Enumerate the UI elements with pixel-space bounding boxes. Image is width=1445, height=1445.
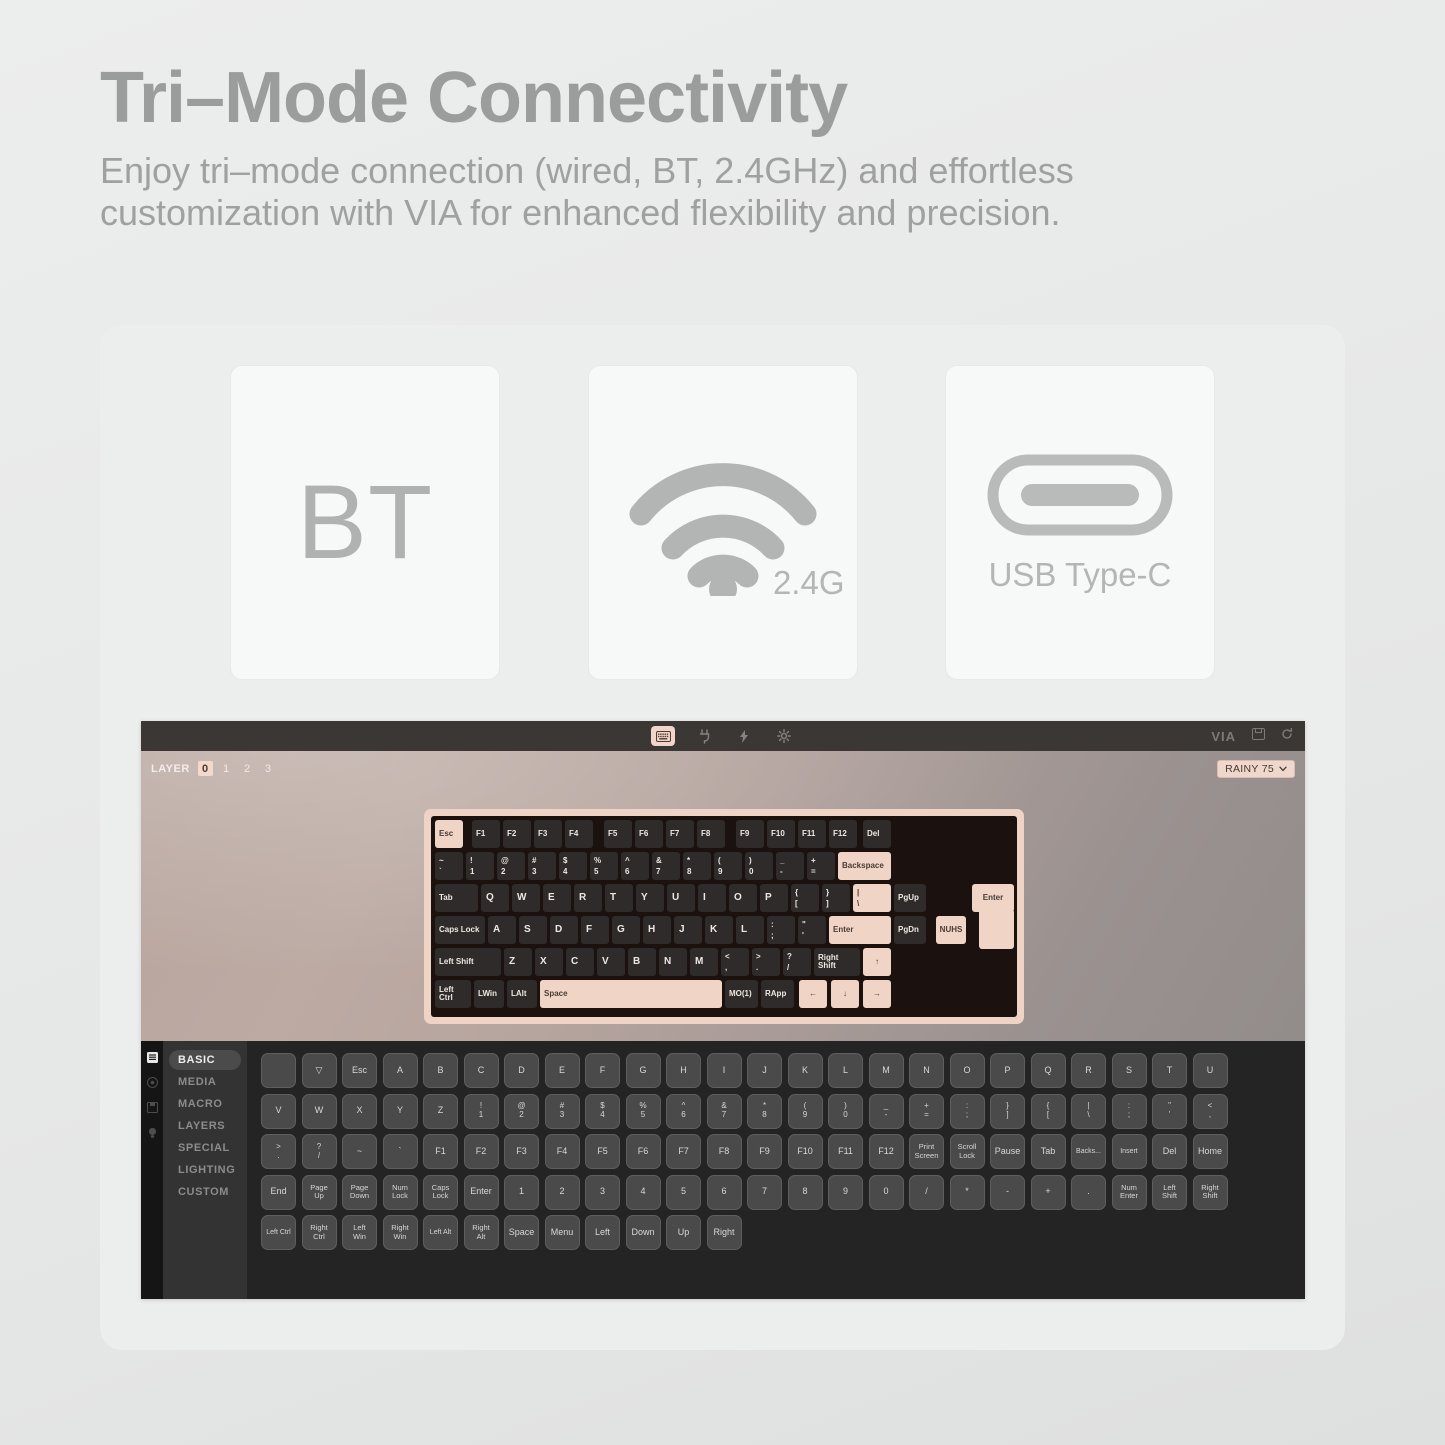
keycode-button[interactable]: -: [990, 1175, 1025, 1210]
keymap-key[interactable]: G: [612, 916, 640, 944]
keymap-key[interactable]: B: [628, 948, 656, 976]
keycode-button[interactable]: Enter: [464, 1175, 499, 1210]
keycode-button[interactable]: F4: [545, 1134, 580, 1169]
keycode-button[interactable]: Up: [666, 1215, 701, 1250]
keycode-button[interactable]: &7: [707, 1094, 742, 1129]
keyboard-select-dropdown[interactable]: RAINY 75: [1217, 760, 1295, 778]
keymap-key[interactable]: Z: [504, 948, 532, 976]
keymap-key[interactable]: N: [659, 948, 687, 976]
keymap-key[interactable]: Left Shift: [435, 948, 501, 976]
keymap-key[interactable]: Left Ctrl: [435, 980, 471, 1008]
keycode-button[interactable]: Left Alt: [423, 1215, 458, 1250]
keymap-key[interactable]: K: [705, 916, 733, 944]
usbc-label: USB Type-C: [989, 556, 1172, 594]
layer-label: LAYER: [151, 763, 190, 775]
keymap-key[interactable]: Tab: [435, 884, 478, 912]
keycode-button[interactable]: N: [909, 1053, 944, 1088]
keycode-button[interactable]: F3: [504, 1134, 539, 1169]
keyboard-icon[interactable]: [651, 726, 675, 746]
keymap-key[interactable]: ↑: [863, 948, 891, 976]
keycode-button[interactable]: T: [1152, 1053, 1187, 1088]
keycode-button[interactable]: %5: [626, 1094, 661, 1129]
keycode-button[interactable]: Tab: [1031, 1134, 1066, 1169]
keycode-button[interactable]: Down: [626, 1215, 661, 1250]
menu-item-media[interactable]: MEDIA: [169, 1072, 241, 1092]
keymap-key[interactable]: F6: [635, 820, 663, 848]
keycode-button[interactable]: 0: [869, 1175, 904, 1210]
keycode-button[interactable]: F11: [828, 1134, 863, 1169]
keycode-button[interactable]: F5: [585, 1134, 620, 1169]
keycode-button[interactable]: 1: [504, 1175, 539, 1210]
keycode-button[interactable]: G: [626, 1053, 661, 1088]
keycode-button[interactable]: $4: [585, 1094, 620, 1129]
category-menu: BASICMEDIAMACROLAYERSSPECIALLIGHTINGCUST…: [163, 1041, 247, 1299]
keymap-key[interactable]: NUHS: [936, 916, 966, 944]
keymap-key[interactable]: MO(1): [725, 980, 758, 1008]
keycode-button[interactable]: RightWin: [383, 1215, 418, 1250]
layer-option-3[interactable]: 3: [261, 761, 276, 776]
keycode-button[interactable]: Z: [423, 1094, 458, 1129]
keycode-button[interactable]: #3: [545, 1094, 580, 1129]
keymap-key[interactable]: Del: [863, 820, 891, 848]
keymap-key[interactable]: W: [512, 884, 540, 912]
keymap-key[interactable]: @2: [497, 852, 525, 880]
keymap-key[interactable]: Caps Lock: [435, 916, 485, 944]
keymap-key[interactable]: "': [798, 916, 826, 944]
keycode-button[interactable]: Insert: [1112, 1134, 1147, 1169]
keycode-button[interactable]: D: [504, 1053, 539, 1088]
keycode-button[interactable]: _-: [869, 1094, 904, 1129]
menu-item-macro[interactable]: MACRO: [169, 1094, 241, 1114]
keymap-key[interactable]: F11: [798, 820, 826, 848]
keymap-key[interactable]: Right Shift: [814, 948, 860, 976]
keycode-button[interactable]: >.: [261, 1134, 296, 1169]
keycode-button[interactable]: [261, 1053, 296, 1088]
keycode-button[interactable]: Y: [383, 1094, 418, 1129]
keymap-key[interactable]: X: [535, 948, 563, 976]
keycode-button[interactable]: V: [261, 1094, 296, 1129]
keyboard-board: EscF1F2F3F4F5F6F7F8F9F10F11F12Del~`!1@2#…: [424, 809, 1024, 1024]
menu-item-lighting[interactable]: LIGHTING: [169, 1160, 241, 1180]
keymap-key[interactable]: →: [863, 980, 891, 1008]
keycode-button[interactable]: Space: [504, 1215, 539, 1250]
keymap-key[interactable]: E: [543, 884, 571, 912]
keycode-button[interactable]: W: [302, 1094, 337, 1129]
keycode-button[interactable]: )0: [828, 1094, 863, 1129]
keycode-button[interactable]: PageUp: [302, 1175, 337, 1210]
keycode-button[interactable]: PrintScreen: [909, 1134, 944, 1169]
refresh-icon[interactable]: [1281, 727, 1293, 745]
menu-item-layers[interactable]: LAYERS: [169, 1116, 241, 1136]
feature-card-wireless: 2.4G: [588, 365, 858, 680]
keymap-key[interactable]: Space: [540, 980, 722, 1008]
keycode-button[interactable]: ▽: [302, 1053, 337, 1088]
keycode-button[interactable]: RightShift: [1193, 1175, 1228, 1210]
keycode-row: >.?/~`F1F2F3F4F5F6F7F8F9F10F11F12PrintSc…: [261, 1134, 1295, 1169]
keycode-button[interactable]: F6: [626, 1134, 661, 1169]
keymap-key[interactable]: PgUp: [894, 884, 926, 912]
keymap-key[interactable]: P: [760, 884, 788, 912]
keycode-button[interactable]: ScrollLock: [950, 1134, 985, 1169]
keycode-button[interactable]: PageDown: [342, 1175, 377, 1210]
save-icon[interactable]: [146, 1101, 159, 1114]
keycode-button[interactable]: Home: [1193, 1134, 1228, 1169]
keymap-key[interactable]: O: [729, 884, 757, 912]
keycode-button[interactable]: C: [464, 1053, 499, 1088]
keymap-key[interactable]: F1: [472, 820, 500, 848]
keyboard-icon[interactable]: [146, 1051, 159, 1064]
keycode-button[interactable]: +: [1031, 1175, 1066, 1210]
menu-item-custom[interactable]: CUSTOM: [169, 1182, 241, 1202]
content-panel: BT 2.4G USB: [100, 325, 1345, 1350]
wireless-label: 2.4G: [773, 564, 845, 602]
keymap-key[interactable]: C: [566, 948, 594, 976]
keymap-key[interactable]: F: [581, 916, 609, 944]
keycode-button[interactable]: .: [1071, 1175, 1106, 1210]
keymap-key[interactable]: Y: [636, 884, 664, 912]
keymap-key[interactable]: %5: [590, 852, 618, 880]
keymap-key[interactable]: A: [488, 916, 516, 944]
keymap-key[interactable]: {[: [791, 884, 819, 912]
keymap-key[interactable]: Enter: [829, 916, 891, 944]
via-brand: VIA: [1211, 729, 1236, 744]
keycode-row: VWXYZ!1@2#3$4%5^6&7*8(9)0_-+=:;}]{[|\:;"…: [261, 1094, 1295, 1129]
keycode-button[interactable]: LeftWin: [342, 1215, 377, 1250]
keycode-button[interactable]: ?/: [302, 1134, 337, 1169]
keymap-key[interactable]: L: [736, 916, 764, 944]
keycode-button[interactable]: !1: [464, 1094, 499, 1129]
keycode-button[interactable]: F12: [869, 1134, 904, 1169]
keycode-button[interactable]: ~: [342, 1134, 377, 1169]
keymap-key[interactable]: Enter: [972, 884, 1014, 912]
keycode-button[interactable]: 8: [788, 1175, 823, 1210]
keycode-button[interactable]: F2: [464, 1134, 499, 1169]
keycode-button[interactable]: RightCtrl: [302, 1215, 337, 1250]
save-icon[interactable]: [1252, 727, 1265, 745]
keymap-key[interactable]: F10: [767, 820, 795, 848]
keycode-button[interactable]: `: [383, 1134, 418, 1169]
keycode-button[interactable]: A: [383, 1053, 418, 1088]
keycode-button[interactable]: S: [1112, 1053, 1147, 1088]
keycode-row: ▽EscABCDEFGHIJKLMNOPQRSTU: [261, 1053, 1295, 1088]
usb-plug-icon[interactable]: [693, 726, 715, 746]
keymap-key[interactable]: ←: [799, 980, 827, 1008]
keymap-key[interactable]: Backspace: [838, 852, 891, 880]
keymap-key[interactable]: |\: [853, 884, 891, 912]
keycode-button[interactable]: P: [990, 1053, 1025, 1088]
keymap-key[interactable]: ↓: [831, 980, 859, 1008]
keymap-key[interactable]: :;: [767, 916, 795, 944]
keymap-key[interactable]: $4: [559, 852, 587, 880]
feature-card-bluetooth: BT: [230, 365, 500, 680]
keymap-key[interactable]: &7: [652, 852, 680, 880]
keycode-button[interactable]: R: [1071, 1053, 1106, 1088]
keymap-key[interactable]: ~`: [435, 852, 463, 880]
keycode-button[interactable]: :;: [1112, 1094, 1147, 1129]
keycode-button[interactable]: F: [585, 1053, 620, 1088]
app-toolbar: VIA: [141, 721, 1305, 751]
keycode-button[interactable]: RightAlt: [464, 1215, 499, 1250]
feature-cards: BT 2.4G USB: [230, 365, 1215, 680]
menu-item-special[interactable]: SPECIAL: [169, 1138, 241, 1158]
keymap-key[interactable]: LWin: [474, 980, 504, 1008]
keycode-button[interactable]: 2: [545, 1175, 580, 1210]
keymap-key[interactable]: >.: [752, 948, 780, 976]
keycode-button[interactable]: Backs...: [1071, 1134, 1106, 1169]
keycode-picker-section: BASICMEDIAMACROLAYERSSPECIALLIGHTINGCUST…: [141, 1041, 1305, 1299]
keymap-key[interactable]: Esc: [435, 820, 463, 848]
keycode-button[interactable]: Right: [707, 1215, 742, 1250]
keymap-key[interactable]: H: [643, 916, 671, 944]
keymap-key[interactable]: PgDn: [894, 916, 926, 944]
keycode-button[interactable]: M: [869, 1053, 904, 1088]
keymap-key[interactable]: J: [674, 916, 702, 944]
keycode-button[interactable]: K: [788, 1053, 823, 1088]
bluetooth-label: BT: [297, 470, 433, 575]
keymap-key[interactable]: F5: [604, 820, 632, 848]
keycode-button[interactable]: }]: [990, 1094, 1025, 1129]
keycode-button[interactable]: F8: [707, 1134, 742, 1169]
keyboard-preview-area: LAYER 0 1 2 3 RAINY 75 EscF1F2F3F4F5F6F7…: [141, 751, 1305, 1041]
keymap-key[interactable]: V: [597, 948, 625, 976]
keycode-button[interactable]: NumEnter: [1112, 1175, 1147, 1210]
layer-selector[interactable]: LAYER 0 1 2 3: [151, 761, 276, 776]
page-title: Tri–Mode Connectivity: [100, 62, 1300, 134]
keycode-button[interactable]: End: [261, 1175, 296, 1210]
keymap-key[interactable]: ?/: [783, 948, 811, 976]
via-app-window: VIA LAYER 0 1 2 3 RAINY 75: [141, 721, 1305, 1299]
keycode-button[interactable]: Pause: [990, 1134, 1025, 1169]
keycode-button[interactable]: *: [950, 1175, 985, 1210]
layer-option-0[interactable]: 0: [198, 761, 213, 776]
keycode-button[interactable]: O: [950, 1053, 985, 1088]
gear-icon[interactable]: [773, 726, 795, 746]
keymap-key[interactable]: F2: [503, 820, 531, 848]
record-icon[interactable]: [146, 1076, 159, 1089]
keycode-button[interactable]: F7: [666, 1134, 701, 1169]
bulb-icon[interactable]: [146, 1126, 159, 1139]
keycode-grid: ▽EscABCDEFGHIJKLMNOPQRSTUVWXYZ!1@2#3$4%5…: [247, 1041, 1305, 1299]
keycode-button[interactable]: *8: [747, 1094, 782, 1129]
keymap-key[interactable]: RApp: [761, 980, 794, 1008]
keycode-button[interactable]: 4: [626, 1175, 661, 1210]
keycode-button[interactable]: "': [1152, 1094, 1187, 1129]
keymap-key[interactable]: _-: [776, 852, 804, 880]
keymap-key[interactable]: M: [690, 948, 718, 976]
keymap-key[interactable]: Q: [481, 884, 509, 912]
keymap-key[interactable]: F4: [565, 820, 593, 848]
feature-card-usbc: USB Type-C: [945, 365, 1215, 680]
keycode-button[interactable]: :;: [950, 1094, 985, 1129]
keycode-button[interactable]: F1: [423, 1134, 458, 1169]
keymap-key[interactable]: D: [550, 916, 578, 944]
keycode-button[interactable]: ^6: [666, 1094, 701, 1129]
keycode-button[interactable]: /: [909, 1175, 944, 1210]
lightning-icon[interactable]: [733, 726, 755, 746]
keycode-button[interactable]: Menu: [545, 1215, 580, 1250]
keycode-button[interactable]: @2: [504, 1094, 539, 1129]
keymap-key[interactable]: !1: [466, 852, 494, 880]
keycode-button[interactable]: Q: [1031, 1053, 1066, 1088]
keycode-button[interactable]: LeftShift: [1152, 1175, 1187, 1210]
keycode-button[interactable]: X: [342, 1094, 377, 1129]
keymap-key[interactable]: )0: [745, 852, 773, 880]
keycode-button[interactable]: {[: [1031, 1094, 1066, 1129]
usb-type-c-icon: [985, 452, 1175, 538]
hero-section: Tri–Mode Connectivity Enjoy tri–mode con…: [100, 62, 1300, 235]
keycode-button[interactable]: (9: [788, 1094, 823, 1129]
keycode-button[interactable]: F9: [747, 1134, 782, 1169]
keymap-key[interactable]: ^6: [621, 852, 649, 880]
keymap-key[interactable]: F3: [534, 820, 562, 848]
keycode-button[interactable]: J: [747, 1053, 782, 1088]
keymap-key[interactable]: +=: [807, 852, 835, 880]
app-icon-rail: [141, 1041, 163, 1299]
keycode-row: Left CtrlRightCtrlLeftWinRightWinLeft Al…: [261, 1215, 1295, 1250]
keycode-button[interactable]: 5: [666, 1175, 701, 1210]
keycode-button[interactable]: +=: [909, 1094, 944, 1129]
keymap-key[interactable]: F12: [829, 820, 857, 848]
keycode-button[interactable]: NumLock: [383, 1175, 418, 1210]
keycode-button[interactable]: Left: [585, 1215, 620, 1250]
keycode-button[interactable]: Esc: [342, 1053, 377, 1088]
keycode-button[interactable]: <,: [1193, 1094, 1228, 1129]
keymap-key[interactable]: <,: [721, 948, 749, 976]
keycode-button[interactable]: 3: [585, 1175, 620, 1210]
keycode-button[interactable]: H: [666, 1053, 701, 1088]
page-subtitle: Enjoy tri–mode connection (wired, BT, 2.…: [100, 150, 1240, 235]
keyboard-select-value: RAINY 75: [1225, 763, 1274, 775]
keycode-button[interactable]: 6: [707, 1175, 742, 1210]
keymap-key[interactable]: S: [519, 916, 547, 944]
keymap-key[interactable]: (9: [714, 852, 742, 880]
keymap-key[interactable]: T: [605, 884, 633, 912]
keymap-key[interactable]: LAlt: [507, 980, 537, 1008]
keycode-button[interactable]: L: [828, 1053, 863, 1088]
keymap-key[interactable]: #3: [528, 852, 556, 880]
chevron-down-icon: [1279, 766, 1287, 772]
keycode-button[interactable]: CapsLock: [423, 1175, 458, 1210]
keycode-button[interactable]: |\: [1071, 1094, 1106, 1129]
keymap-key[interactable]: }]: [822, 884, 850, 912]
menu-item-basic[interactable]: BASIC: [169, 1050, 241, 1070]
keycode-button[interactable]: Del: [1152, 1134, 1187, 1169]
keycode-button[interactable]: F10: [788, 1134, 823, 1169]
layer-option-2[interactable]: 2: [240, 761, 255, 776]
wifi-icon: 2.4G: [623, 456, 823, 596]
keycode-button[interactable]: B: [423, 1053, 458, 1088]
keymap-key[interactable]: F9: [736, 820, 764, 848]
keycode-button[interactable]: 9: [828, 1175, 863, 1210]
keymap-key[interactable]: F8: [697, 820, 725, 848]
keycode-button[interactable]: I: [707, 1053, 742, 1088]
keymap-key[interactable]: I: [698, 884, 726, 912]
keyboard-keys-container: EscF1F2F3F4F5F6F7F8F9F10F11F12Del~`!1@2#…: [431, 816, 1017, 1017]
keycode-button[interactable]: Left Ctrl: [261, 1215, 296, 1250]
keycode-button[interactable]: U: [1193, 1053, 1228, 1088]
keymap-key[interactable]: *8: [683, 852, 711, 880]
keymap-key[interactable]: F7: [666, 820, 694, 848]
keymap-key[interactable]: R: [574, 884, 602, 912]
layer-option-1[interactable]: 1: [219, 761, 234, 776]
keycode-button[interactable]: E: [545, 1053, 580, 1088]
keycode-button[interactable]: 7: [747, 1175, 782, 1210]
keycode-row: EndPageUpPageDownNumLockCapsLockEnter123…: [261, 1175, 1295, 1210]
keymap-key-enter-lower[interactable]: [979, 909, 1014, 949]
keymap-key[interactable]: U: [667, 884, 695, 912]
